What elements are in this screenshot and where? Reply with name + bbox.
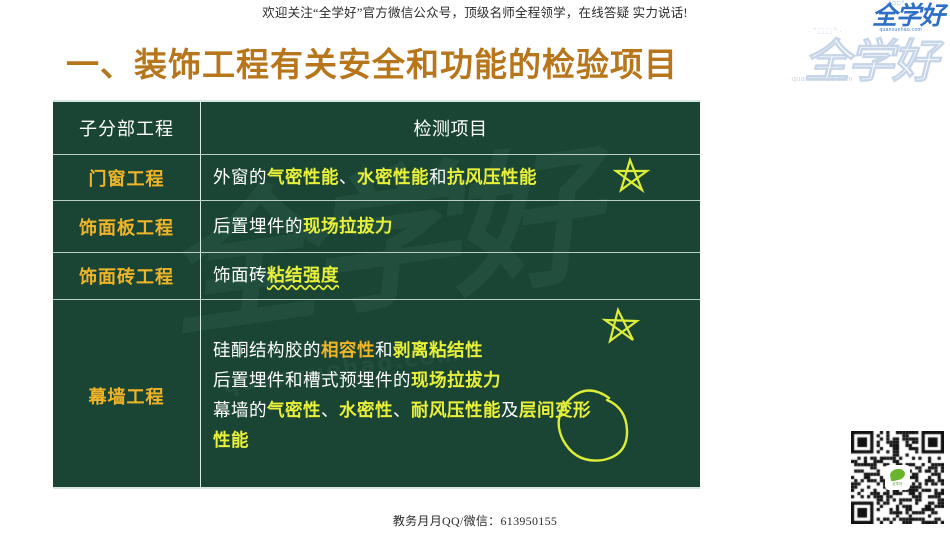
table-header-cell-items: 检测项目 [201, 102, 700, 154]
table-row: 饰面砖工程饰面砖粘结强度 [53, 252, 700, 299]
highlighted-text-segment: 水密性能 [357, 168, 429, 188]
watermark-decor-dots: ·°□□°· [808, 26, 844, 36]
table-header-cell-category: 子分部工程 [53, 102, 201, 154]
text-segment: 和 [375, 341, 393, 361]
table-row: 幕墙工程硅酮结构胶的相容性和剥离粘结性后置埋件和槽式预埋件的现场拉拔力幕墙的气密… [53, 299, 700, 489]
table-row: 饰面板工程后置埋件的现场拉拔力 [53, 200, 700, 252]
table-cell-items: 饰面砖粘结强度 [201, 253, 700, 299]
text-segment: 饰面砖 [213, 266, 267, 286]
qr-center-label: 全学好 [892, 481, 902, 486]
table-cell-category: 幕墙工程 [53, 300, 201, 489]
highlighted-text-segment: 气密性 [267, 401, 321, 421]
footer-contact-text: 教务月月QQ/微信：613950155 [0, 512, 950, 529]
highlighted-text-segment: 现场拉拔力 [411, 371, 501, 391]
text-segment: 幕墙的 [213, 401, 267, 421]
item-line: 外窗的气密性能、水密性能和抗风压性能 [213, 163, 700, 193]
text-segment: 、 [393, 401, 411, 421]
watermark-brand-url: quanxuehao.com [786, 76, 936, 83]
table-row: 门窗工程外窗的气密性能、水密性能和抗风压性能 [53, 154, 700, 200]
item-line: 幕墙的气密性、水密性、耐风压性能及层间变形 [213, 396, 700, 426]
text-segment: 外窗的 [213, 168, 267, 188]
page-title: 一、装饰工程有关安全和功能的检验项目 [66, 38, 678, 86]
highlighted-text-segment: 气密性能 [267, 168, 339, 188]
highlighted-text-segment: 水密性 [339, 401, 393, 421]
text-segment: 和 [429, 168, 447, 188]
highlighted-text-segment: 现场拉拔力 [303, 217, 393, 237]
table-cell-items: 后置埋件的现场拉拔力 [201, 201, 700, 252]
logo-watermark: ·°□□°· 全学好 quanxuehao.com [786, 36, 936, 106]
text-segment: 后置埋件和槽式预埋件的 [213, 371, 411, 391]
promo-banner-text: 欢迎关注“全学好”官方微信公众号，顶级名师全程领学，在线答疑 实力说话! [0, 2, 950, 21]
inspection-items-table: 全学好 quanxuehao.com 子分部工程检测项目门窗工程外窗的气密性能、… [53, 100, 700, 489]
text-segment: 硅酮结构胶的 [213, 341, 321, 361]
cell-lines: 硅酮结构胶的相容性和剥离粘结性后置埋件和槽式预埋件的现场拉拔力幕墙的气密性、水密… [213, 336, 700, 456]
highlighted-text-segment: 性能 [213, 431, 249, 451]
highlighted-text-segment: 相容性 [321, 341, 375, 361]
table-cell-category: 饰面板工程 [53, 201, 201, 252]
table-cell-items: 外窗的气密性能、水密性能和抗风压性能 [201, 155, 700, 200]
highlighted-text-segment: 抗风压性能 [447, 168, 537, 188]
item-line: 后置埋件的现场拉拔力 [213, 212, 700, 242]
table-header-row: 子分部工程检测项目 [53, 102, 700, 154]
text-segment: 、 [321, 401, 339, 421]
qr-center-logo: 全学好 [885, 465, 910, 490]
cell-lines: 外窗的气密性能、水密性能和抗风压性能 [213, 163, 700, 193]
highlighted-text-segment: 层间变形 [519, 401, 591, 421]
brand-logo: ·°□□°· 全学好 quanxuehao.com [840, 2, 944, 44]
highlighted-text-segment: 粘结强度 [267, 266, 339, 286]
text-segment: 及 [501, 401, 519, 421]
item-line: 硅酮结构胶的相容性和剥离粘结性 [213, 336, 700, 366]
cell-lines: 后置埋件的现场拉拔力 [213, 212, 700, 242]
table-cell-category: 门窗工程 [53, 155, 201, 200]
cell-lines: 饰面砖粘结强度 [213, 261, 700, 291]
table-cell-items: 硅酮结构胶的相容性和剥离粘结性后置埋件和槽式预埋件的现场拉拔力幕墙的气密性、水密… [201, 300, 700, 489]
text-segment: 、 [339, 168, 357, 188]
item-line: 性能 [213, 426, 700, 456]
table-cell-category: 饰面砖工程 [53, 253, 201, 299]
leaf-icon [889, 468, 906, 482]
item-line: 饰面砖粘结强度 [213, 261, 700, 291]
item-line: 后置埋件和槽式预埋件的现场拉拔力 [213, 366, 700, 396]
logo-decor-dots: ·°□□°· [886, 1, 908, 7]
highlighted-text-segment: 耐风压性能 [411, 401, 501, 421]
text-segment: 后置埋件的 [213, 217, 303, 237]
highlighted-text-segment: 剥离粘结性 [393, 341, 483, 361]
